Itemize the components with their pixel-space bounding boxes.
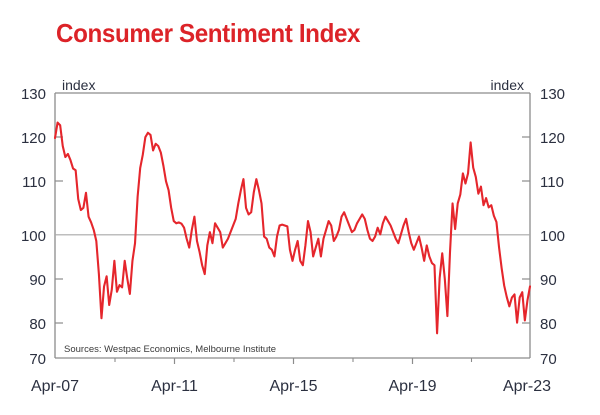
ytick-left-100: 100 bbox=[21, 228, 46, 245]
xtick-apr-11: Apr-11 bbox=[151, 378, 198, 395]
source-note: Sources: Westpac Economics, Melbourne In… bbox=[64, 344, 276, 355]
ytick-left-80: 80 bbox=[29, 316, 46, 333]
series-line-consumer-sentiment bbox=[55, 123, 530, 334]
ytick-left-130: 130 bbox=[21, 86, 46, 103]
y-axis-labels-right: 130 120 110 100 90 80 70 bbox=[540, 86, 565, 368]
chart-plot-area: 130 120 110 100 90 80 70 130 120 110 100… bbox=[0, 0, 600, 415]
xtick-apr-19: Apr-19 bbox=[388, 378, 436, 395]
xtick-apr-07: Apr-07 bbox=[31, 378, 79, 395]
ytick-right-90: 90 bbox=[540, 272, 557, 289]
xtick-apr-15: Apr-15 bbox=[269, 378, 317, 395]
consumer-sentiment-chart: Consumer Sentiment Index bbox=[0, 0, 600, 415]
ytick-right-80: 80 bbox=[540, 316, 557, 333]
ytick-right-130: 130 bbox=[540, 86, 565, 103]
xtick-apr-23: Apr-23 bbox=[503, 378, 551, 395]
ytick-right-110: 110 bbox=[540, 174, 564, 191]
ytick-left-90: 90 bbox=[29, 272, 46, 289]
x-axis-labels: Apr-07 Apr-11 Apr-15 Apr-19 Apr-23 bbox=[31, 378, 551, 395]
unit-label-right: index bbox=[491, 77, 524, 93]
y-axis-ticks bbox=[55, 137, 530, 323]
ytick-left-70: 70 bbox=[29, 351, 46, 368]
unit-label-left: index bbox=[62, 77, 95, 93]
ytick-right-120: 120 bbox=[540, 130, 565, 147]
ytick-left-120: 120 bbox=[21, 130, 46, 147]
ytick-left-110: 110 bbox=[22, 174, 46, 191]
chart-frame bbox=[55, 93, 530, 358]
ytick-right-100: 100 bbox=[540, 228, 565, 245]
x-axis-ticks bbox=[115, 358, 472, 364]
ytick-right-70: 70 bbox=[540, 351, 557, 368]
y-axis-labels-left: 130 120 110 100 90 80 70 bbox=[21, 86, 46, 368]
